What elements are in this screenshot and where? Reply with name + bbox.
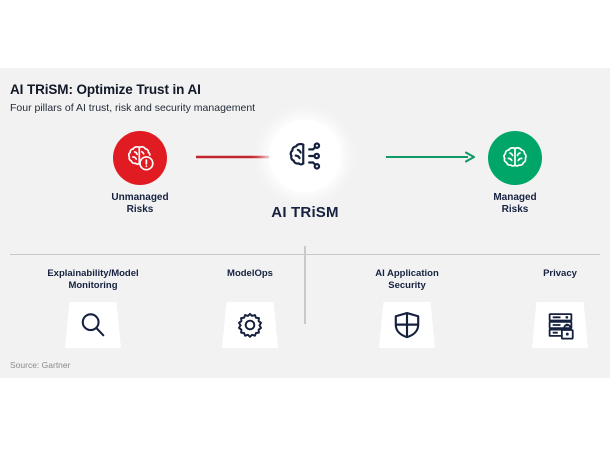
pillar-ai-application-security-label-line1: AI Application bbox=[332, 268, 482, 280]
unmanaged-risks-label: Unmanaged Risks bbox=[65, 192, 215, 216]
brain-icon bbox=[498, 141, 532, 175]
unmanaged-risks-label-line1: Unmanaged bbox=[65, 192, 215, 204]
node-ai-trism: AI TRiSM bbox=[230, 120, 380, 221]
shield-icon bbox=[393, 310, 421, 340]
pillar-explainability: Explainability/Model Monitoring bbox=[18, 268, 168, 348]
unmanaged-risks-circle bbox=[113, 131, 167, 185]
managed-risks-circle bbox=[488, 131, 542, 185]
pillar-explainability-label-line2: Monitoring bbox=[18, 280, 168, 292]
pillar-ai-application-security: AI Application Security bbox=[332, 268, 482, 348]
ai-trism-label: AI TRiSM bbox=[230, 204, 380, 221]
pillar-ai-application-security-label: AI Application Security bbox=[332, 268, 482, 294]
node-unmanaged-risks: Unmanaged Risks bbox=[65, 131, 215, 216]
brain-alert-icon bbox=[123, 141, 157, 175]
page-title: AI TRiSM: Optimize Trust in AI bbox=[10, 82, 201, 97]
pillar-modelops-label: ModelOps bbox=[175, 268, 325, 294]
magnifier-icon bbox=[78, 310, 108, 340]
gear-icon bbox=[235, 310, 265, 340]
pillar-privacy-label: Privacy bbox=[485, 268, 610, 294]
pillar-explainability-label: Explainability/Model Monitoring bbox=[18, 268, 168, 294]
pillar-ai-application-security-icon-plate bbox=[379, 302, 435, 348]
node-managed-risks: Managed Risks bbox=[440, 131, 590, 216]
unmanaged-risks-label-line2: Risks bbox=[65, 204, 215, 216]
pillar-privacy-label-line1: Privacy bbox=[485, 268, 610, 280]
pillar-modelops-icon-plate bbox=[222, 302, 278, 348]
center-connector-line bbox=[304, 246, 306, 324]
source-attribution: Source: Gartner bbox=[10, 360, 70, 370]
pillar-modelops: ModelOps bbox=[175, 268, 325, 348]
pillar-modelops-label-line1: ModelOps bbox=[175, 268, 325, 280]
pillar-privacy-icon-plate bbox=[532, 302, 588, 348]
server-lock-icon bbox=[546, 310, 575, 340]
managed-risks-label-line1: Managed bbox=[440, 192, 590, 204]
managed-risks-label-line2: Risks bbox=[440, 204, 590, 216]
brain-circuit-icon bbox=[284, 135, 326, 177]
pillar-ai-application-security-label-line2: Security bbox=[332, 280, 482, 292]
page-subtitle: Four pillars of AI trust, risk and secur… bbox=[10, 102, 255, 114]
managed-risks-label: Managed Risks bbox=[440, 192, 590, 216]
section-divider bbox=[10, 254, 600, 255]
ai-trism-circle bbox=[269, 120, 341, 192]
pillar-explainability-icon-plate bbox=[65, 302, 121, 348]
pillar-privacy: Privacy bbox=[485, 268, 610, 348]
pillar-explainability-label-line1: Explainability/Model bbox=[18, 268, 168, 280]
infographic-canvas: AI TRiSM: Optimize Trust in AI Four pill… bbox=[0, 68, 610, 378]
